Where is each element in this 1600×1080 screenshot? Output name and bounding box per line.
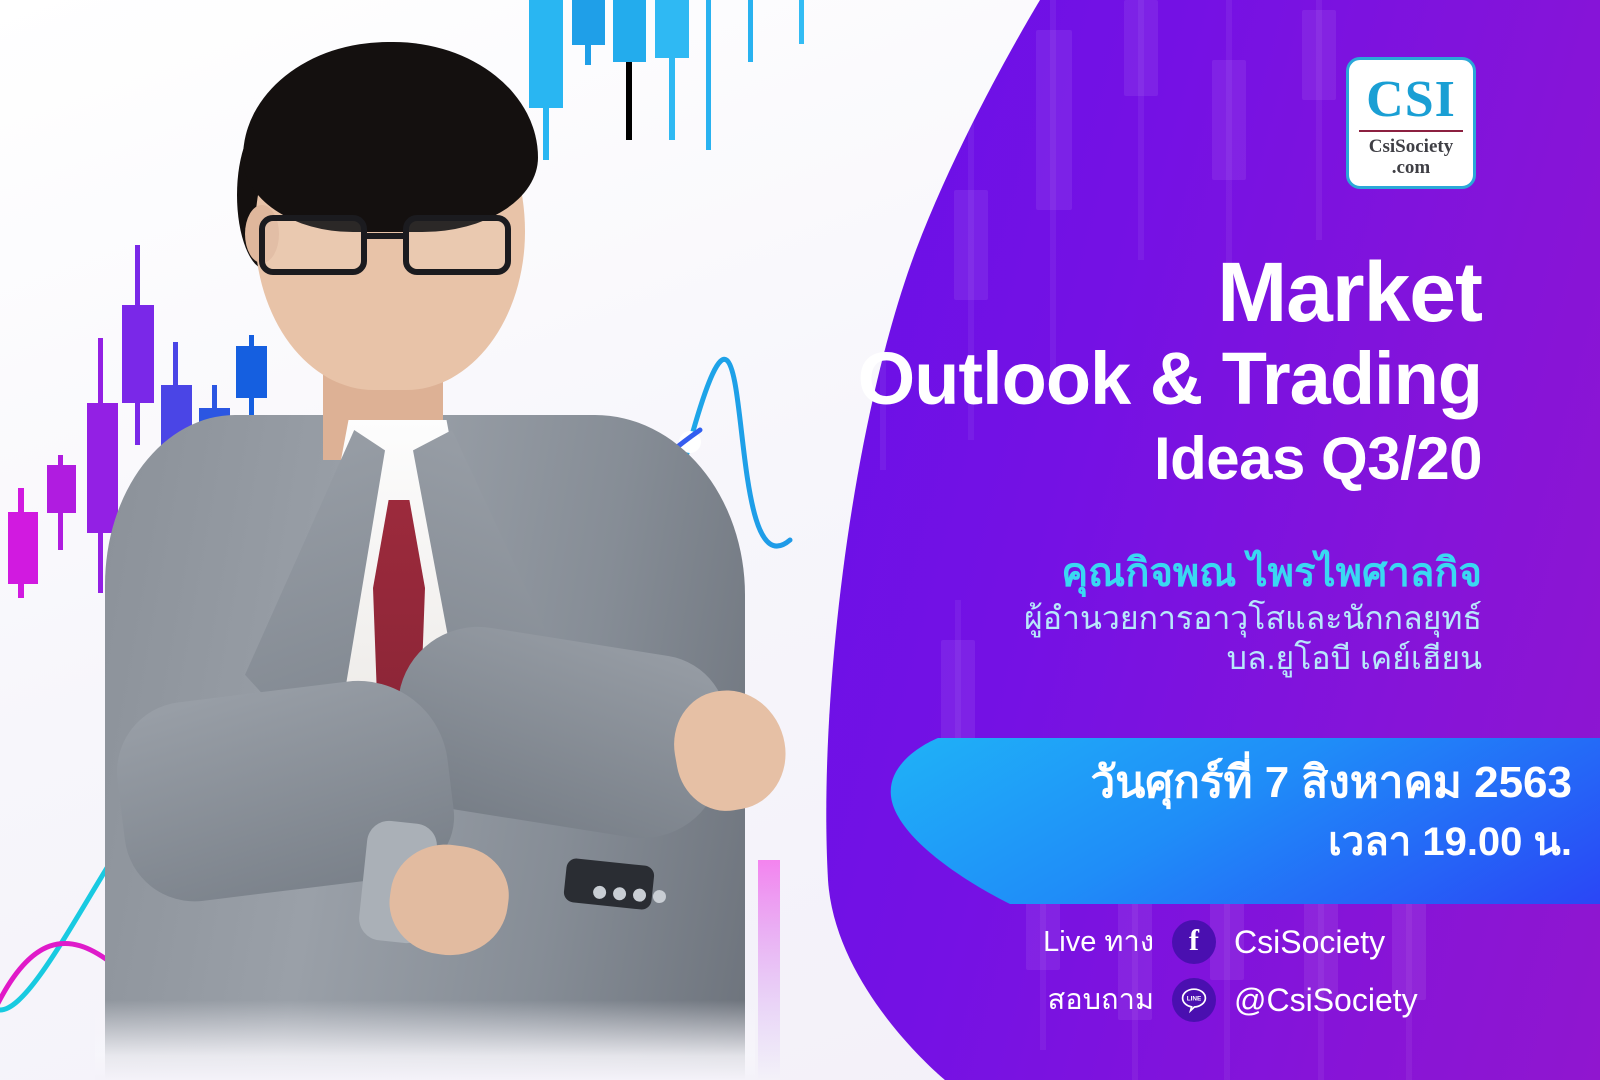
headline-line-2: Outlook & Trading — [782, 336, 1482, 422]
headline-line-3: Ideas Q3/20 — [782, 422, 1482, 496]
headline-block: Market Outlook & Trading Ideas Q3/20 — [782, 248, 1482, 496]
social-row-line[interactable]: สอบถาม LINE @CsiSociety — [862, 978, 1482, 1022]
speaker-block: คุณกิจพณ ไพรไพศาลกิจ ผู้อำนวยการอาวุโสแล… — [782, 548, 1482, 678]
social-row-facebook[interactable]: Live ทาง f CsiSociety — [862, 920, 1482, 964]
csi-logo[interactable]: CSI CsiSociety .com — [1346, 57, 1476, 189]
headline-line-1: Market — [782, 248, 1482, 336]
facebook-icon[interactable]: f — [1172, 920, 1216, 964]
logo-site-name: CsiSociety — [1369, 136, 1453, 157]
line-icon[interactable]: LINE — [1172, 978, 1216, 1022]
photo-bottom-fade — [95, 1000, 755, 1080]
logo-divider-rule — [1359, 130, 1463, 132]
social-label-contact: สอบถาม — [1048, 983, 1154, 1017]
photo-hair — [243, 42, 538, 232]
logo-domain-suffix: .com — [1392, 157, 1431, 178]
speaker-role: ผู้อำนวยการอาวุโสและนักกลยุทธ์ — [782, 598, 1482, 638]
social-links-block: Live ทาง f CsiSociety สอบถาม LINE @CsiSo… — [862, 920, 1482, 1036]
event-date: วันศุกร์ที่ 7 สิงหาคม 2563 — [880, 752, 1572, 814]
photo-glasses — [253, 215, 528, 277]
event-time: เวลา 19.00 น. — [880, 814, 1572, 870]
promo-poster: CSI CsiSociety .com Market Outlook & Tra… — [0, 0, 1600, 1080]
social-label-live: Live ทาง — [1043, 925, 1154, 959]
facebook-handle[interactable]: CsiSociety — [1234, 923, 1482, 961]
event-date-text: วันศุกร์ที่ 7 สิงหาคม 2563 เวลา 19.00 น. — [880, 752, 1572, 870]
line-handle[interactable]: @CsiSociety — [1234, 981, 1482, 1019]
speaker-photo — [95, 0, 755, 1080]
svg-text:LINE: LINE — [1187, 995, 1202, 1002]
speaker-name: คุณกิจพณ ไพรไพศาลกิจ — [782, 548, 1482, 598]
speaker-organization: บล.ยูโอบี เคย์เฮียน — [782, 638, 1482, 678]
logo-wordmark: CSI — [1366, 73, 1456, 127]
